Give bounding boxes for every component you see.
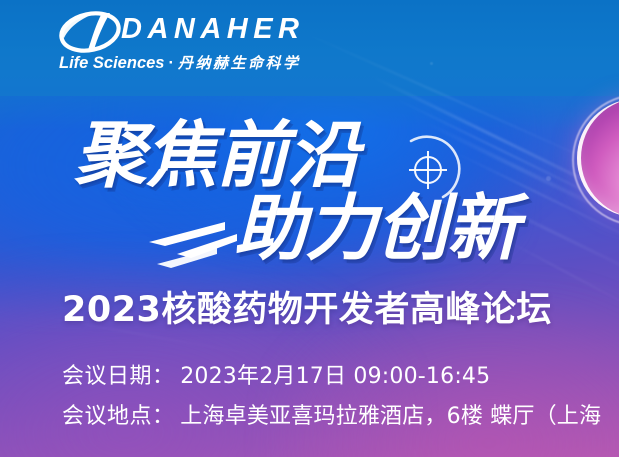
event-date-line: 会议日期：2023年2月17日 09:00-16:45 — [62, 366, 490, 388]
event-venue-separator: ： — [152, 404, 180, 429]
event-date-separator: ： — [152, 364, 180, 389]
headline-line-1: 聚焦前沿 — [74, 119, 358, 191]
danaher-tagline: Life Sciences·丹纳赫生命科学 — [59, 55, 301, 72]
danaher-d-swoosh-icon — [58, 10, 128, 54]
tagline-separator: · — [164, 54, 178, 72]
danaher-wordmark: DANAHER — [121, 15, 305, 44]
event-date-label: 会议日期 — [62, 364, 152, 389]
event-poster: DANAHER Life Sciences·丹纳赫生命科学 聚焦前沿 助力创新 … — [0, 0, 619, 457]
event-venue-value: 上海卓美亚喜玛拉雅酒店，6楼 蝶厅（上海 — [180, 404, 601, 429]
danaher-logo: DANAHER Life Sciences·丹纳赫生命科学 — [58, 8, 358, 80]
event-venue-line: 会议地点：上海卓美亚喜玛拉雅酒店，6楼 蝶厅（上海 — [62, 406, 601, 428]
sparkle-dot — [430, 62, 433, 65]
headline-line-2: 助力创新 — [234, 192, 518, 264]
tagline-chinese: 丹纳赫生命科学 — [178, 55, 301, 72]
event-date-value: 2023年2月17日 09:00-16:45 — [180, 364, 490, 389]
event-venue-label: 会议地点 — [62, 404, 152, 429]
tagline-english: Life Sciences — [59, 54, 164, 72]
hero-headline: 聚焦前沿 助力创新 — [0, 96, 619, 296]
event-subtitle: 2023核酸药物开发者高峰论坛 — [62, 293, 552, 328]
